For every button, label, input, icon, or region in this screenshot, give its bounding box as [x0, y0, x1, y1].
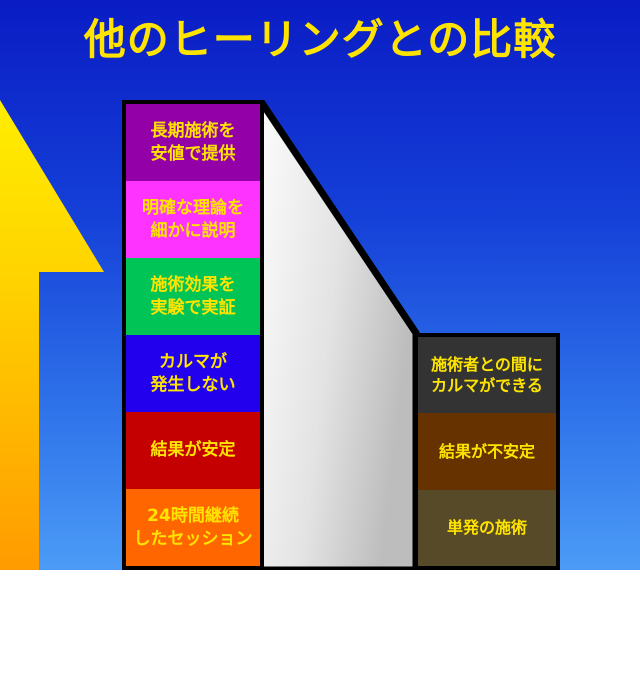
left-block-1-line-2: 安値で提供 [151, 143, 236, 165]
left-column-blocks: 長期施術を 安値で提供 明確な理論を 細かに説明 施術効果を 実験で実証 カルマ… [122, 100, 264, 570]
left-block-3-line-1: 施術効果を [151, 274, 236, 296]
right-block-2-line-1: 結果が不安定 [439, 441, 535, 462]
up-arrow-icon [0, 100, 104, 570]
left-block-3-line-2: 実験で実証 [151, 297, 236, 319]
slanted-3d-face [260, 100, 420, 570]
right-block-1-line-2: カルマができる [431, 375, 543, 396]
right-block-1-line-1: 施術者との間に [431, 354, 543, 375]
left-block-3: 施術効果を 実験で実証 [126, 258, 260, 335]
left-block-1: 長期施術を 安値で提供 [126, 104, 260, 181]
left-block-4-line-2: 発生しない [151, 374, 236, 396]
blue-background-panel: 長期施術を 安値で提供 明確な理論を 細かに説明 施術効果を 実験で実証 カルマ… [0, 0, 640, 570]
left-block-6-line-2: したセッション [134, 528, 253, 550]
left-block-4-line-1: カルマが [159, 351, 227, 373]
right-block-3: 単発の施術 [418, 490, 556, 566]
left-block-5-line-1: 結果が安定 [151, 439, 236, 461]
infographic-canvas: 長期施術を 安値で提供 明確な理論を 細かに説明 施術効果を 実験で実証 カルマ… [0, 0, 640, 700]
right-block-1: 施術者との間に カルマができる [418, 337, 556, 413]
left-block-6: 24時間継続 したセッション [126, 489, 260, 566]
page-title: 他のヒーリングとの比較 [0, 18, 640, 62]
left-block-6-line-1: 24時間継続 [147, 505, 239, 527]
left-block-2-line-1: 明確な理論を [142, 197, 244, 219]
left-block-2-line-2: 細かに説明 [151, 220, 236, 242]
right-block-3-line-1: 単発の施術 [447, 517, 527, 538]
left-block-2: 明確な理論を 細かに説明 [126, 181, 260, 258]
left-block-5: 結果が安定 [126, 412, 260, 489]
legend-bar: エネルギー装置を 使用したヒーリング 他のヒーリング [0, 570, 640, 700]
right-block-2: 結果が不安定 [418, 413, 556, 489]
left-block-1-line-1: 長期施術を [151, 120, 236, 142]
left-block-4: カルマが 発生しない [126, 335, 260, 412]
right-column-blocks: 施術者との間に カルマができる 結果が不安定 単発の施術 [414, 333, 560, 570]
